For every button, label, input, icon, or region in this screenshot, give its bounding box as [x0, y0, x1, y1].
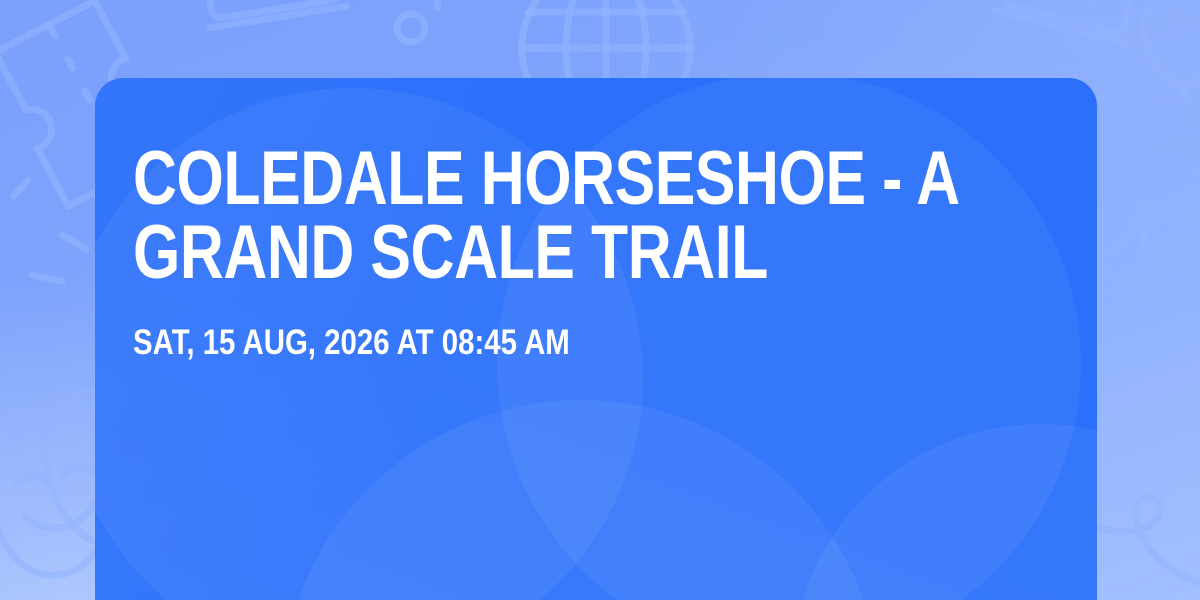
event-banner: Coledale Horseshoe - A Grand Scale Trail… — [0, 0, 1200, 600]
podium-icon-2 — [994, 0, 1147, 43]
podium-icon — [195, 0, 346, 28]
circle-outline-icon — [397, 14, 425, 42]
card-content: Coledale Horseshoe - A Grand Scale Trail… — [133, 142, 1057, 362]
page-title: Coledale Horseshoe - A Grand Scale Trail — [133, 142, 1057, 291]
event-datetime: Sat, 15 Aug, 2026 at 08:45 AM — [133, 291, 1057, 362]
balloon-icon — [1144, 0, 1200, 110]
event-card: Coledale Horseshoe - A Grand Scale Trail… — [95, 78, 1097, 600]
confetti-icon — [14, 180, 86, 281]
